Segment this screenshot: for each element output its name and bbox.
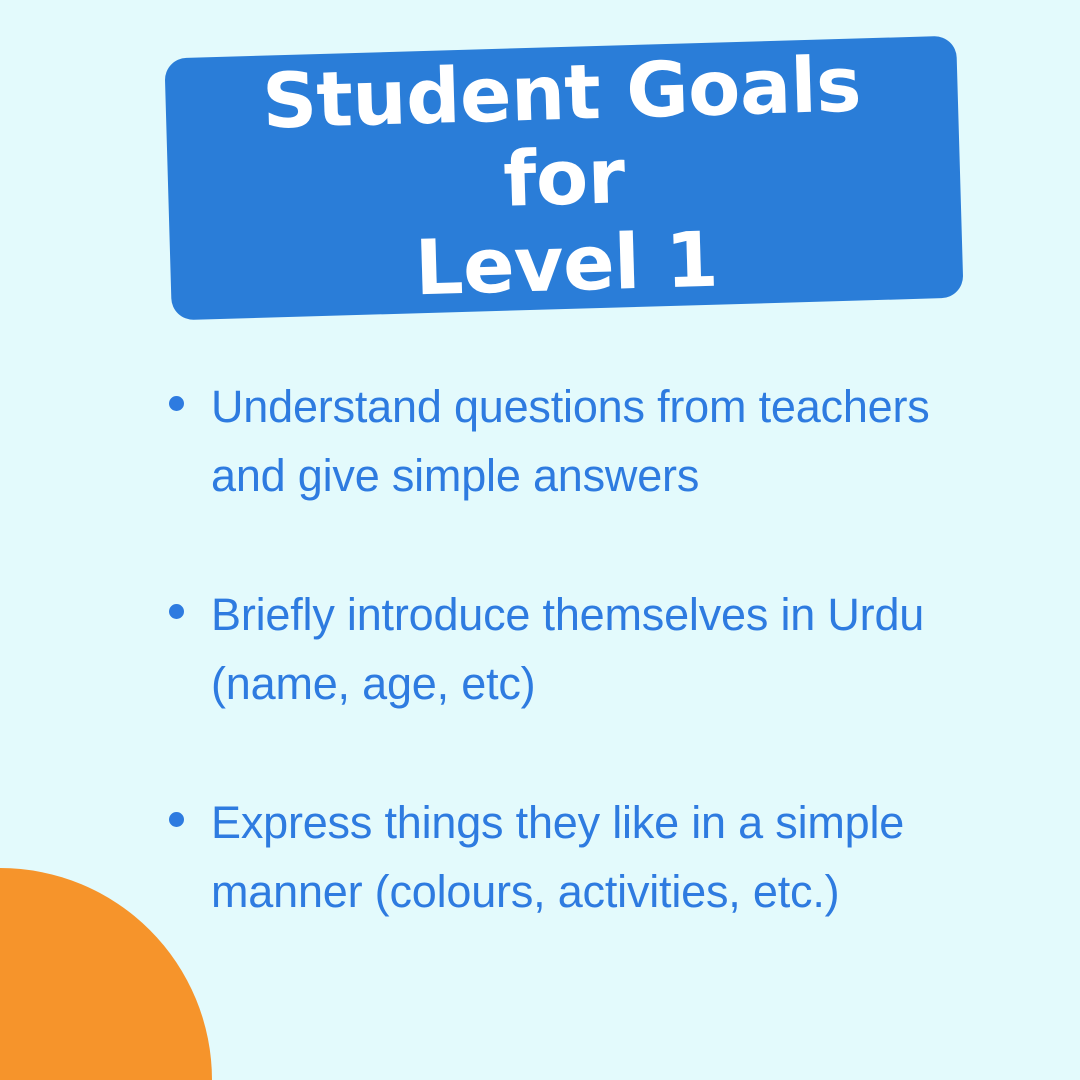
goals-list: Understand questions from teachers and g…: [168, 372, 998, 926]
goal-text: Briefly introduce themselves in Urdu (na…: [211, 580, 998, 718]
goal-text: Understand questions from teachers and g…: [211, 372, 998, 510]
list-item: Briefly introduce themselves in Urdu (na…: [168, 580, 998, 718]
list-item: Understand questions from teachers and g…: [168, 372, 998, 510]
list-item: Express things they like in a simple man…: [168, 788, 998, 926]
page-title: Student Goals for Level 1: [190, 40, 937, 317]
slide-canvas: Student Goals for Level 1 Understand que…: [0, 0, 1080, 1080]
bullet-dot-icon: [169, 812, 184, 827]
bullet-dot-icon: [169, 604, 184, 619]
title-banner: Student Goals for Level 1: [164, 36, 963, 321]
goal-text: Express things they like in a simple man…: [211, 788, 998, 926]
bullet-dot-icon: [169, 396, 184, 411]
